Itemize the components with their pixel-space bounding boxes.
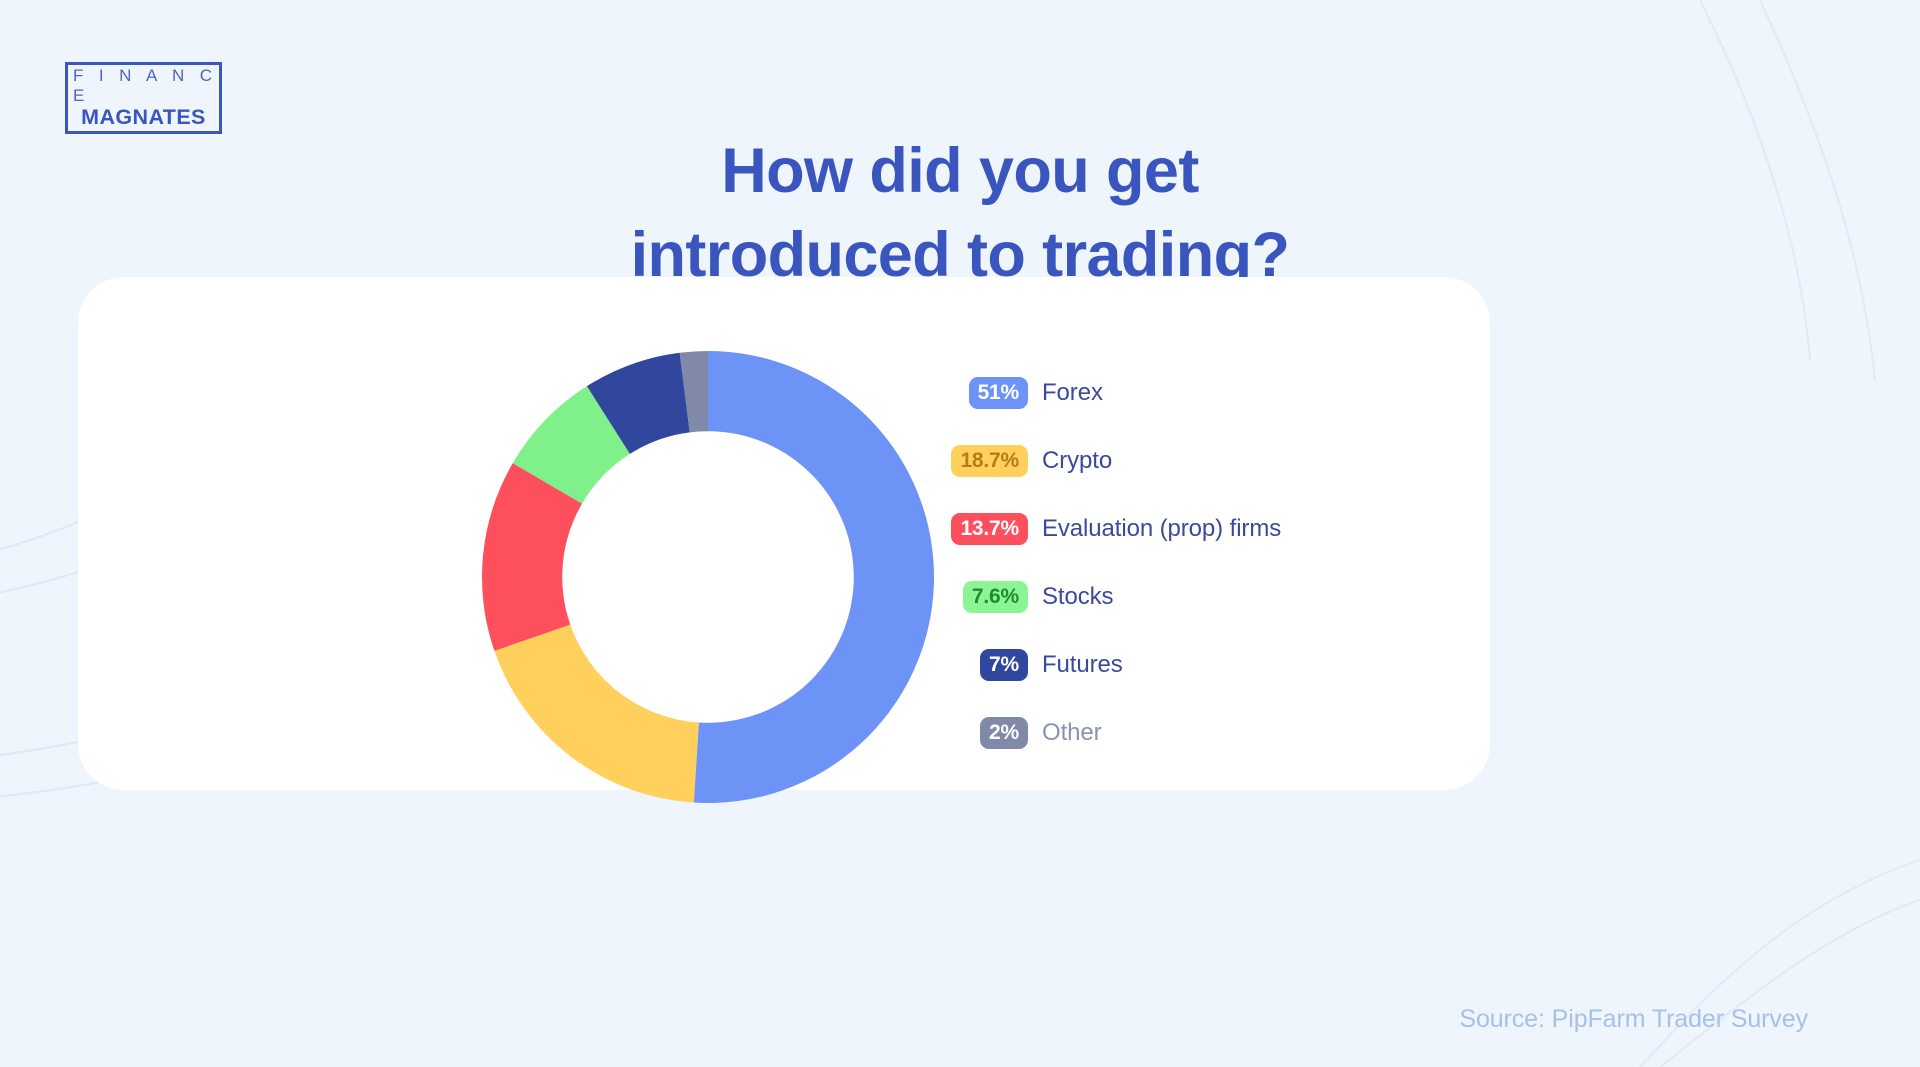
legend-item: 18.7%Crypto [958,437,1458,485]
donut-chart [405,351,1011,803]
chart-legend: 51%Forex18.7%Crypto13.7%Evaluation (prop… [958,369,1458,757]
legend-item: 7.6%Stocks [958,573,1458,621]
legend-label: Crypto [1042,447,1112,475]
legend-label: Evaluation (prop) firms [1042,515,1281,543]
legend-percent-slot: 18.7% [958,445,1028,478]
legend-percent-slot: 2% [958,717,1028,750]
chart-card: 51%Forex18.7%Crypto13.7%Evaluation (prop… [78,277,1490,790]
legend-percent-slot: 51% [958,377,1028,410]
donut-chart-svg [405,351,1011,803]
brand-name-line2: MAGNATES [81,105,206,130]
legend-label: Stocks [1042,583,1113,611]
brand-logo: F I N A N C E MAGNATES [65,62,222,134]
page-title: How did you get introduced to trading? [0,130,1920,298]
legend-item: 2%Other [958,709,1458,757]
legend-percent-slot: 7.6% [958,581,1028,614]
legend-percent-badge: 13.7% [951,513,1028,546]
legend-label: Other [1042,719,1102,747]
legend-percent-badge: 51% [969,377,1028,410]
source-caption: Source: PipFarm Trader Survey [1459,1005,1808,1034]
brand-name-line1: F I N A N C E [68,66,219,105]
legend-percent-slot: 7% [958,649,1028,682]
legend-percent-slot: 13.7% [958,513,1028,546]
legend-item: 51%Forex [958,369,1458,417]
page-title-line1: How did you get [0,130,1920,214]
legend-label: Futures [1042,651,1123,679]
legend-percent-badge: 7% [980,649,1028,682]
legend-item: 7%Futures [958,641,1458,689]
legend-percent-badge: 7.6% [963,581,1028,614]
legend-label: Forex [1042,379,1103,407]
legend-item: 13.7%Evaluation (prop) firms [958,505,1458,553]
legend-percent-badge: 2% [980,717,1028,750]
donut-slice [694,351,934,803]
donut-slice [494,625,698,803]
donut-slice-group [482,351,934,803]
legend-percent-badge: 18.7% [951,445,1028,478]
